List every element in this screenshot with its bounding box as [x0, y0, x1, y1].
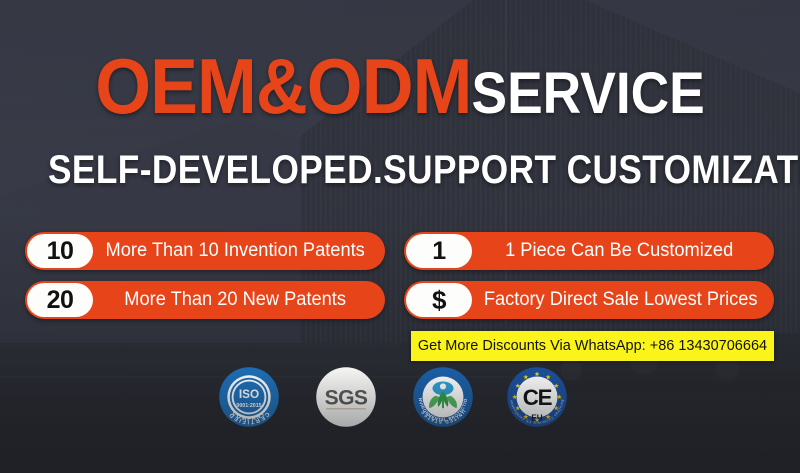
feature-badge-count: 10 — [27, 234, 93, 268]
feature-pill-label: 1 Piece Can Be Customized — [478, 240, 768, 262]
promo-banner: OEM&ODMSERVICE SELF-DEVELOPED.SUPPORT CU… — [0, 0, 800, 473]
feature-badge-count: 20 — [27, 283, 93, 317]
feature-pill-invention-patents: 10 More Than 10 Invention Patents — [25, 232, 385, 270]
sgs-certification-icon: SGS — [315, 366, 377, 428]
banner-content: OEM&ODMSERVICE SELF-DEVELOPED.SUPPORT CU… — [0, 0, 800, 473]
feature-pill-new-patents: 20 More Than 20 New Patents — [25, 281, 385, 319]
subheadline: SELF-DEVELOPED.SUPPORT CUSTOMIZATION — [48, 148, 752, 192]
feature-pill-factory-direct: $ Factory Direct Sale Lowest Prices — [404, 281, 774, 319]
feature-pill-label: More Than 10 Invention Patents — [99, 240, 379, 262]
epa-certification-icon: UNITED STATES ENVIRONMENTAL PROTECTION — [412, 366, 474, 428]
dollar-icon: $ — [406, 283, 472, 317]
svg-text:ISO: ISO — [239, 388, 259, 401]
feature-pill-label: More Than 20 New Patents — [99, 289, 379, 311]
headline-plain: SERVICE — [471, 61, 704, 126]
ce-eu-certification-icon: CE EU European Conformity CE Certificati… — [506, 366, 568, 428]
feature-badge-count: 1 — [406, 234, 472, 268]
feature-pill-label: Factory Direct Sale Lowest Prices — [478, 289, 771, 311]
iso-certification-icon: ISO 9001:2015 CERTIFIED COMPANY — [218, 366, 280, 428]
svg-text:9001:2015: 9001:2015 — [236, 403, 261, 409]
feature-pill-one-piece-custom: 1 1 Piece Can Be Customized — [404, 232, 774, 270]
certification-badges: ISO 9001:2015 CERTIFIED COMPANY SGS — [210, 366, 590, 432]
headline-accent: OEM&ODM — [95, 42, 471, 130]
svg-text:SGS: SGS — [325, 386, 368, 409]
svg-text:CE: CE — [523, 385, 553, 410]
headline: OEM&ODMSERVICE — [32, 52, 768, 128]
whatsapp-contact-bar[interactable]: Get More Discounts Via WhatsApp: +86 134… — [411, 331, 774, 361]
